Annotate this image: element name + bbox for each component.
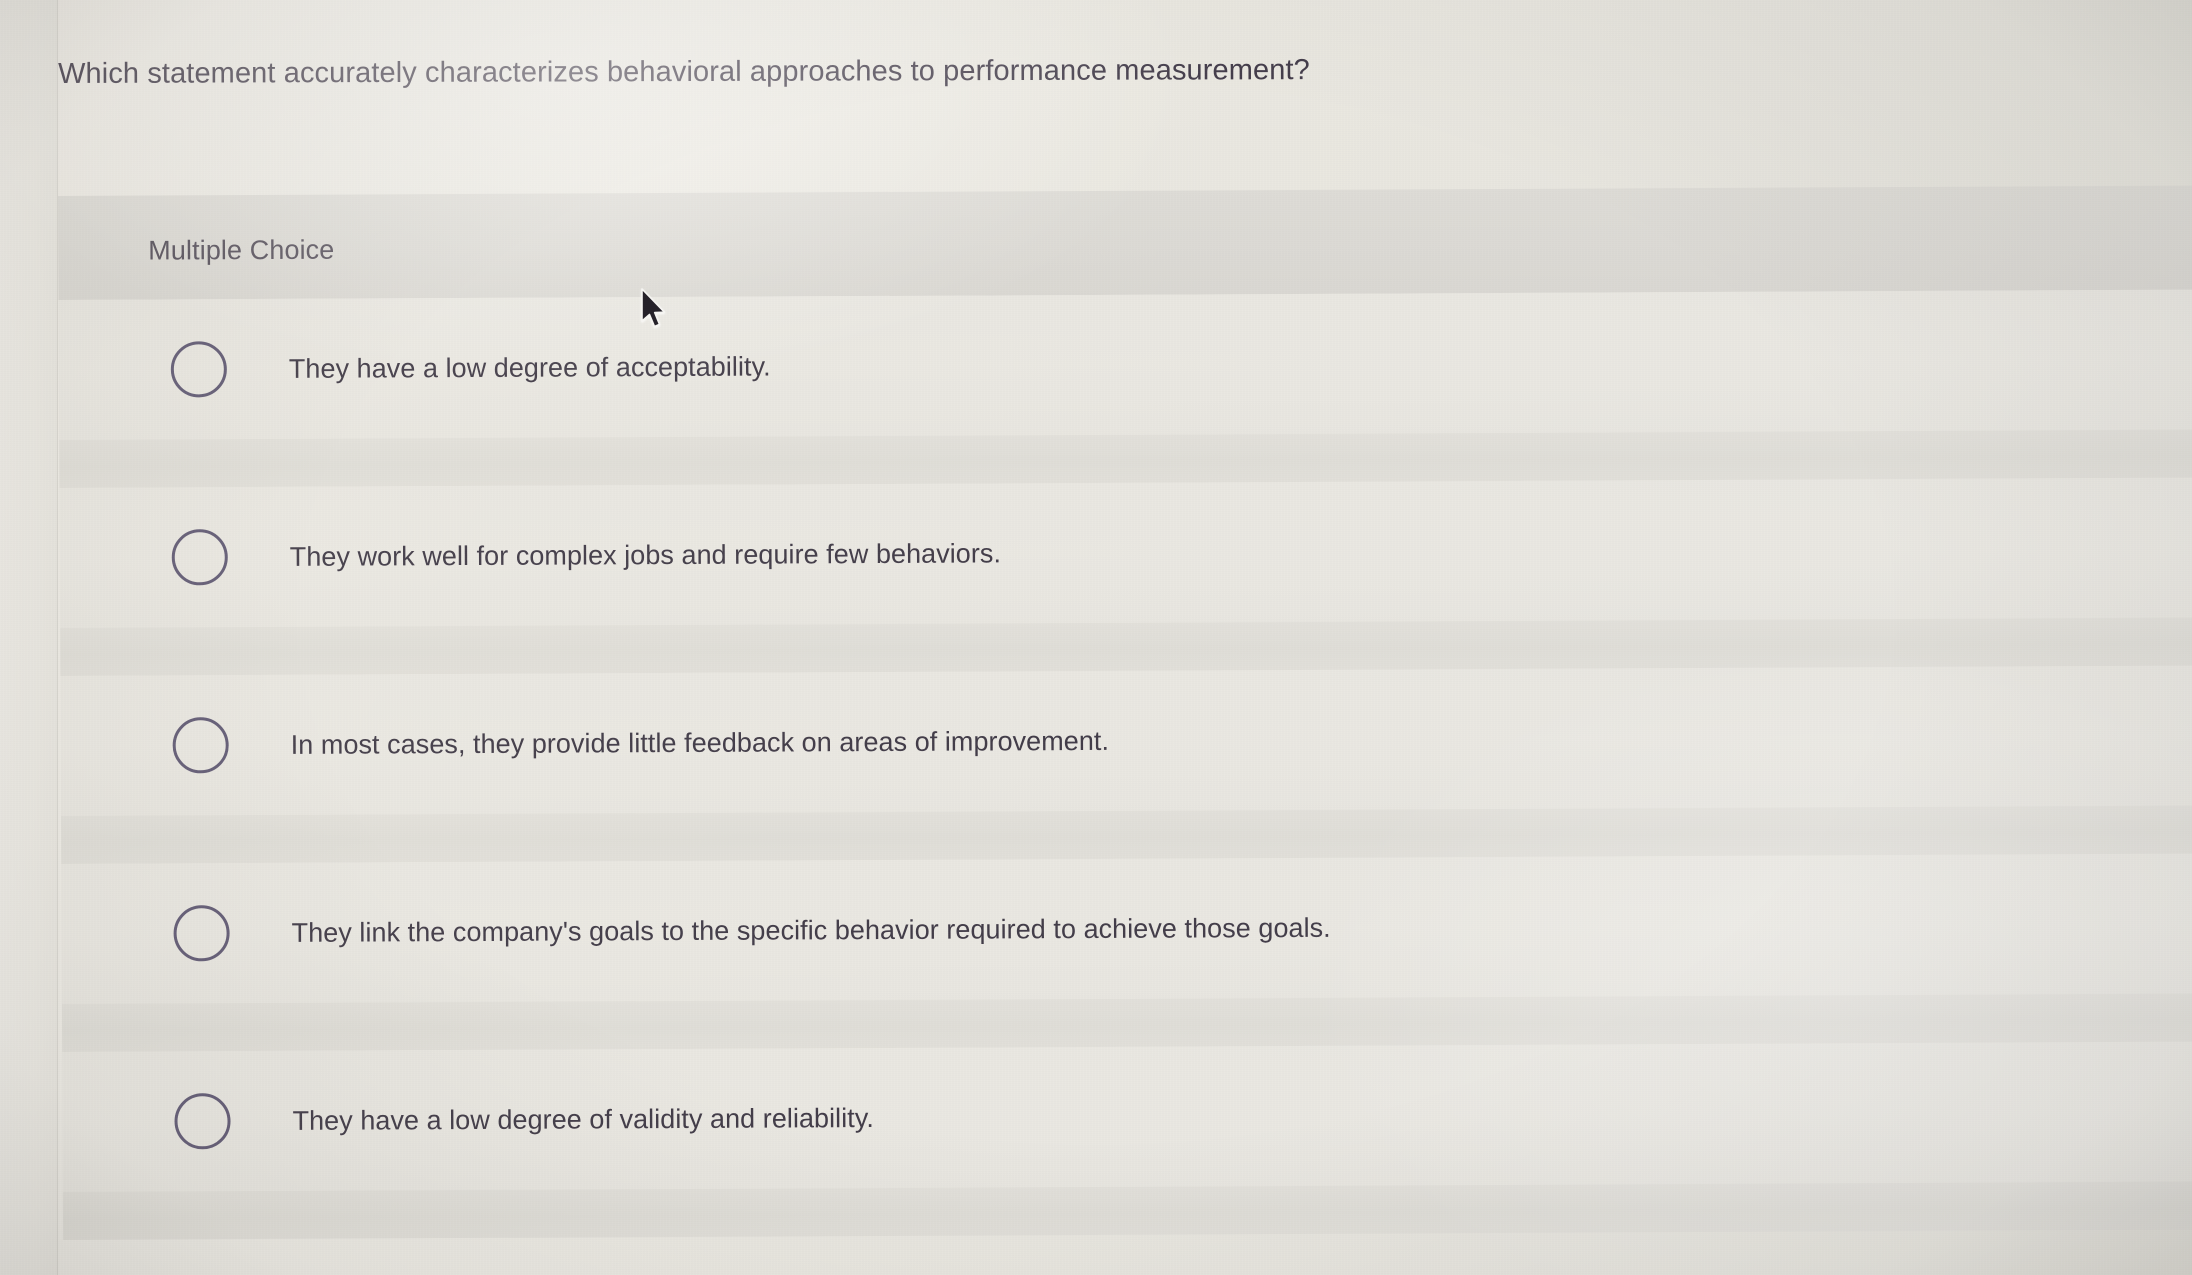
- radio-button-icon[interactable]: [171, 341, 227, 397]
- option-row[interactable]: In most cases, they provide little feedb…: [60, 666, 2192, 816]
- radio-button-icon[interactable]: [172, 529, 228, 585]
- option-row[interactable]: They have a low degree of validity and r…: [62, 1042, 2192, 1192]
- option-row[interactable]: They link the company's goals to the spe…: [61, 854, 2192, 1004]
- option-label: They link the company's goals to the spe…: [292, 912, 1331, 948]
- card-header: Multiple Choice: [58, 186, 2192, 300]
- radio-button-icon[interactable]: [173, 717, 229, 773]
- answer-card: Multiple Choice They have a low degree o…: [58, 186, 2192, 1275]
- radio-button-icon[interactable]: [173, 905, 229, 961]
- question-prompt: Which statement accurately characterizes…: [58, 51, 1758, 94]
- radio-button-icon[interactable]: [174, 1093, 230, 1149]
- options-list: They have a low degree of acceptability.…: [59, 290, 2192, 1240]
- screenshot-root: Which statement accurately characterizes…: [0, 0, 2192, 1275]
- option-label: They work well for complex jobs and requ…: [290, 538, 1001, 572]
- page-left-edge: [0, 0, 58, 1275]
- option-label: They have a low degree of acceptability.: [289, 351, 771, 384]
- option-label: In most cases, they provide little feedb…: [291, 725, 1109, 760]
- option-row[interactable]: They work well for complex jobs and requ…: [59, 478, 2192, 628]
- question-type-label: Multiple Choice: [148, 235, 334, 267]
- option-row[interactable]: They have a low degree of acceptability.: [59, 290, 2192, 440]
- option-label: They have a low degree of validity and r…: [292, 1103, 874, 1137]
